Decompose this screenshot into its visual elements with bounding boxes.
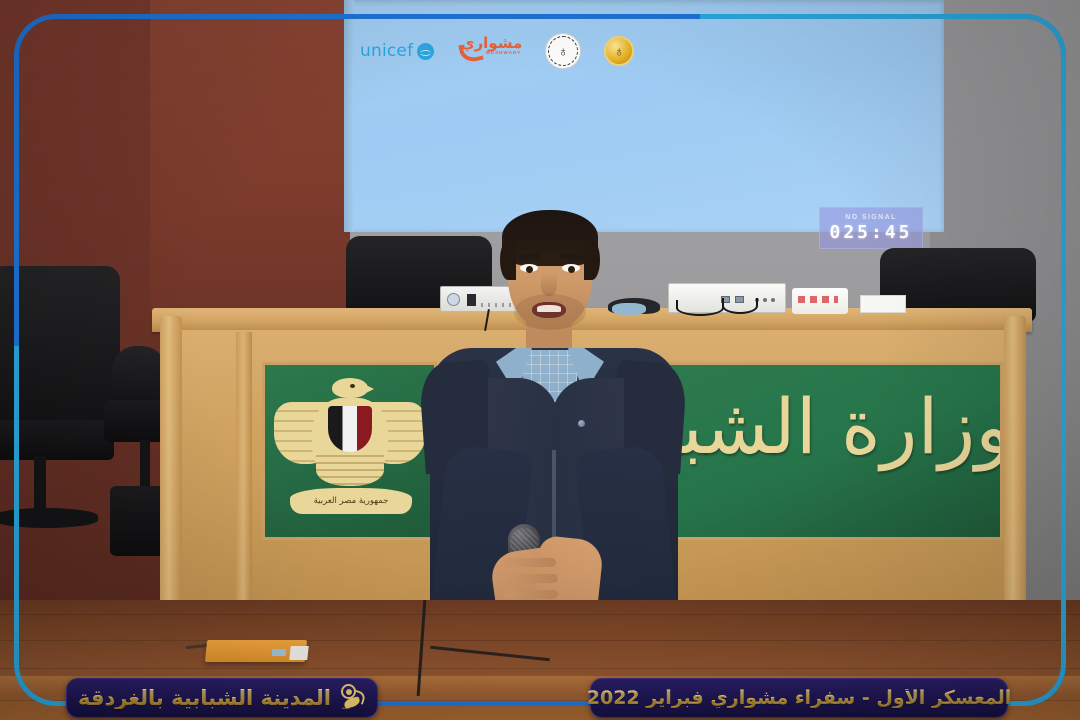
floor-plank-line bbox=[0, 640, 1080, 641]
floor-plank-line bbox=[0, 614, 1080, 615]
unicef-wordmark: unicef bbox=[360, 41, 413, 61]
projector-timer-overlay: NO SIGNAL 025:45 bbox=[819, 207, 923, 249]
podium-left-post bbox=[160, 316, 182, 630]
podium-green-panel-right: وزارة الشباب والر bbox=[663, 362, 1003, 540]
banner-event: المعسكر الأول - سفراء مشواري فبراير 2022 bbox=[590, 678, 1008, 718]
unicef-globe-icon bbox=[417, 43, 434, 60]
speaker-finger bbox=[504, 558, 556, 567]
speaker-finger bbox=[502, 574, 558, 583]
meshwary-logo: مشواري MESHWARY bbox=[460, 34, 522, 68]
tissue-box bbox=[792, 288, 848, 314]
speaker-nose bbox=[541, 272, 557, 296]
eagle-scroll-text: جمهورية مصر العربية bbox=[314, 496, 389, 506]
eagle-feathers-icon bbox=[316, 450, 384, 486]
orange-notebook-label bbox=[272, 649, 286, 656]
podium-right-post bbox=[1004, 316, 1026, 630]
eagle-beak-icon bbox=[364, 384, 374, 394]
speaker-vest-button bbox=[578, 420, 585, 427]
chair-seat-far-left bbox=[0, 420, 114, 460]
eagle-head-icon bbox=[332, 378, 368, 398]
chair-stem-second-left bbox=[140, 440, 150, 490]
floor-plank-line bbox=[0, 668, 1080, 669]
projected-logo-row: unicef مشواري MESHWARY ♁ ♁ bbox=[360, 34, 634, 68]
wall-mid-maroon bbox=[150, 0, 350, 330]
ministry-sign-text: وزارة الشباب والر bbox=[663, 389, 1003, 465]
banner-venue: المدينة الشبابية بالغردقة خدمة bbox=[66, 678, 378, 718]
speaker-teeth bbox=[537, 305, 561, 312]
egypt-government-seal-gold-icon: ♁ bbox=[604, 36, 634, 66]
podium-mid-post bbox=[236, 332, 252, 628]
speaker-pupil-right bbox=[568, 266, 575, 273]
chair-stem-far-left bbox=[34, 456, 46, 516]
projection-screen-left-edge bbox=[344, 0, 354, 232]
speaker-finger bbox=[504, 590, 558, 599]
av-button-icon bbox=[771, 298, 775, 302]
no-signal-label: NO SIGNAL bbox=[845, 214, 897, 221]
av-cable-right bbox=[722, 298, 758, 314]
tissue-box-pattern bbox=[798, 296, 838, 303]
logo-dot-shape bbox=[346, 689, 352, 695]
photo-canvas: unicef مشواري MESHWARY ♁ ♁ NO SIGNAL 025… bbox=[0, 0, 1080, 720]
seal-eagle-glyph: ♁ bbox=[558, 44, 569, 58]
eagle-eye-icon bbox=[350, 384, 355, 388]
banner-event-text: المعسكر الأول - سفراء مشواري فبراير 2022 bbox=[587, 689, 1012, 708]
speaker-pupil-left bbox=[526, 266, 533, 273]
egypt-government-seal-white-icon: ♁ bbox=[548, 36, 578, 66]
seal-eagle-glyph: ♁ bbox=[614, 44, 625, 58]
logo-caption: خدمة bbox=[342, 706, 350, 710]
orange-notebook-pages bbox=[289, 646, 308, 660]
chair-back-far-left bbox=[0, 266, 120, 436]
chair-base-far-left bbox=[0, 508, 98, 528]
youth-city-logo-icon: خدمة bbox=[339, 683, 367, 713]
eagle-shield-icon bbox=[328, 406, 372, 452]
meshwary-swoosh-icon bbox=[459, 41, 484, 64]
meshwary-latin-wordmark: MESHWARY bbox=[486, 50, 521, 55]
av-button-icon bbox=[763, 298, 767, 302]
paper-stack bbox=[860, 295, 906, 313]
unicef-logo: unicef bbox=[360, 41, 434, 61]
eagle-scroll-banner: جمهورية مصر العربية bbox=[290, 488, 412, 514]
timer-value: 025:45 bbox=[829, 222, 912, 243]
speaker-hair-right bbox=[584, 240, 600, 280]
banner-venue-text: المدينة الشبابية بالغردقة bbox=[78, 688, 331, 709]
speaker-hair-left bbox=[500, 240, 516, 280]
